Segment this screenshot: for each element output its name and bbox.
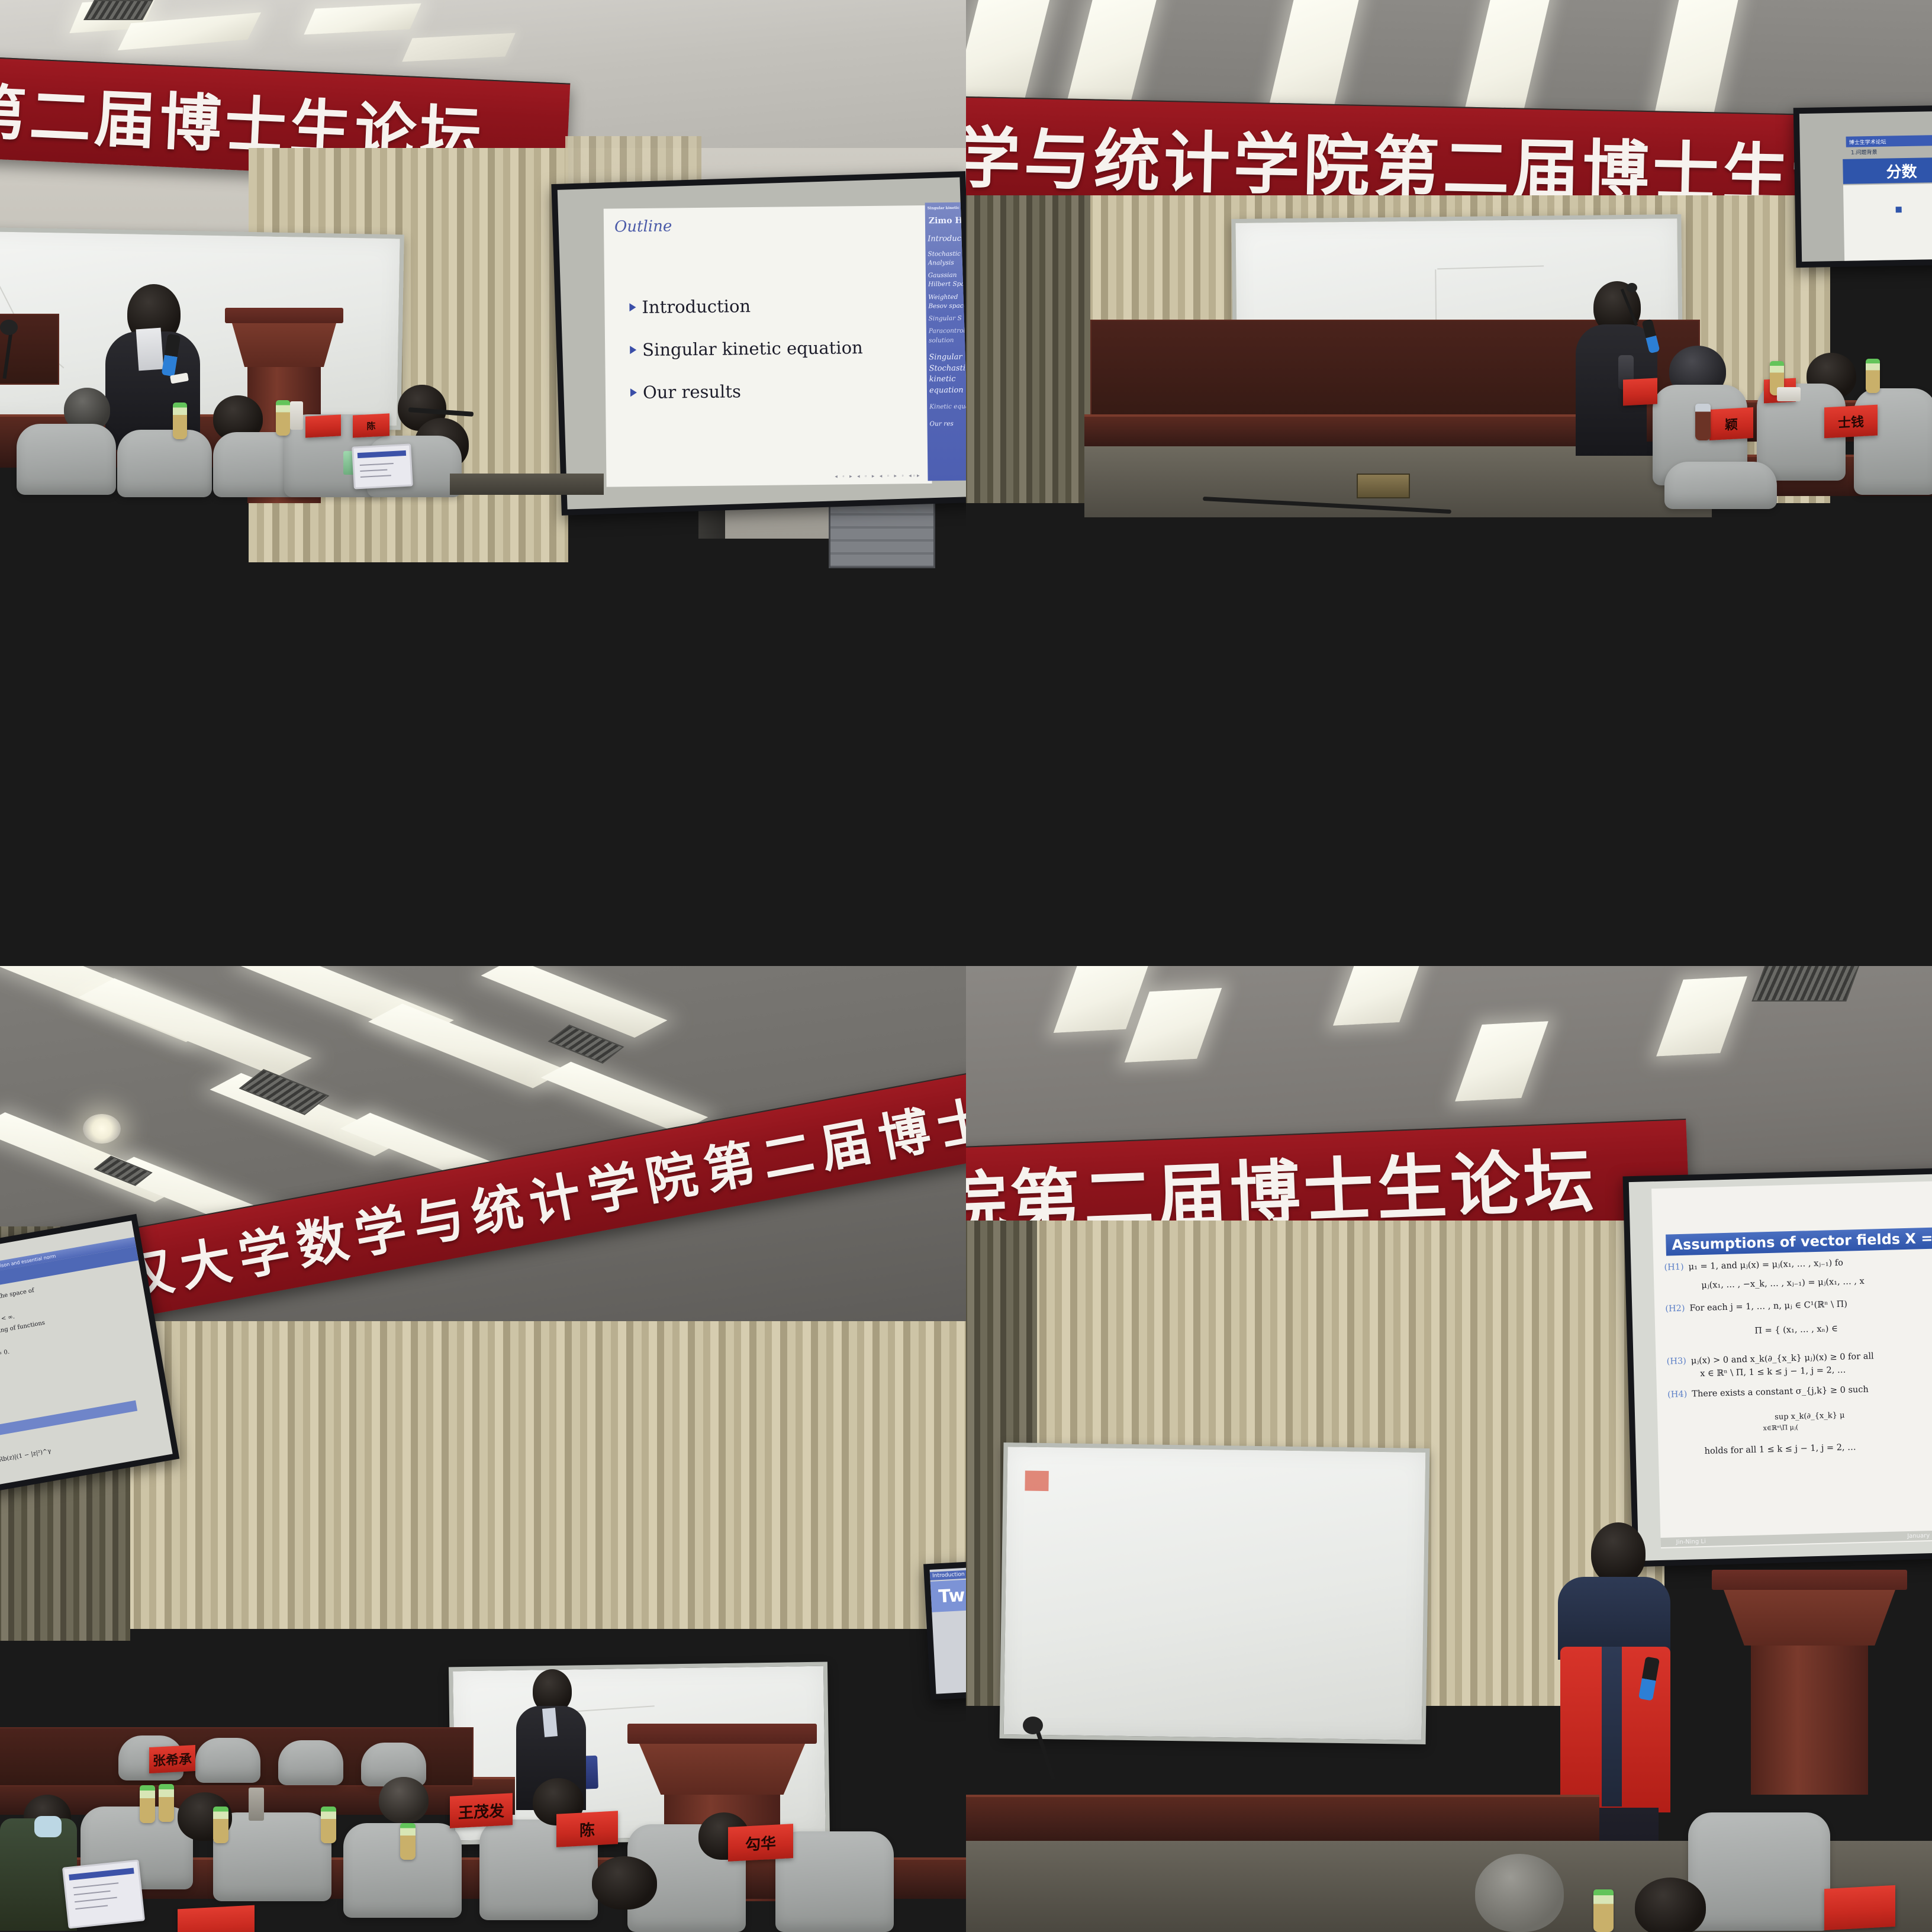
sidebar-header: Singular kinetic equation bbox=[928, 206, 966, 212]
slide-outline: Outline Introduction Singular kinetic eq… bbox=[604, 205, 932, 487]
slide-header: 博士生学术论坛 bbox=[1846, 134, 1932, 147]
floor-strip bbox=[450, 474, 604, 495]
slide-body bbox=[1843, 183, 1932, 260]
drink-bottle bbox=[400, 1823, 416, 1860]
chair bbox=[17, 424, 116, 495]
slide-footer-date: January 5, 2021 bbox=[1907, 1531, 1932, 1539]
slide-nav-dots: ◂ ▫ ▸ ◂ ▫ ▸ ◂ ▫ ▸ ▫ ◂▫▸ bbox=[835, 472, 921, 480]
whiteboard-mark bbox=[1435, 269, 1437, 321]
slide-bullet: Our results bbox=[630, 381, 741, 402]
audience-head bbox=[1635, 1878, 1706, 1932]
speaker-shirt bbox=[542, 1708, 558, 1737]
chair bbox=[775, 1831, 894, 1932]
drink-bottle bbox=[159, 1784, 174, 1822]
slide-theorem: S. Then B_{γ,0}) ≍ lim sup |Rb(z)|(1 − |… bbox=[0, 1434, 52, 1477]
screen-surface: 博士生学术论坛 1.问题背景 分数 bbox=[1799, 111, 1932, 262]
speaker-jacket-zip bbox=[1602, 1647, 1622, 1807]
slide-assumptions: (H1) μ₁ = 1, and μⱼ(x) = μⱼ(x₁, … , xⱼ₋₁… bbox=[1664, 1254, 1932, 1459]
panel-bottom-left: 武汉大学数学与统计学院第二届博士生论坛 Comparison and essen… bbox=[0, 966, 966, 1932]
slide-bullet-label: Our results bbox=[643, 381, 741, 402]
chair bbox=[278, 1740, 343, 1785]
bullet-triangle-icon bbox=[630, 388, 637, 397]
drink-can bbox=[1695, 404, 1711, 440]
drink-bottle bbox=[1593, 1889, 1614, 1932]
microphone-head bbox=[0, 320, 18, 335]
slide-title: Outline bbox=[614, 217, 672, 236]
projection-screen: Assumptions of vector fields X = ( (H1) … bbox=[1622, 1168, 1932, 1567]
assumption-item: (H4) There exists a constant σ_{j,k} ≥ 0… bbox=[1667, 1381, 1932, 1402]
sidebar-item: Kinetic equation bbox=[929, 402, 966, 412]
screen-surface: Introduction Tw bbox=[930, 1567, 966, 1693]
sidebar-item: Gaussian Hilbert Space bbox=[928, 271, 966, 289]
slide-bullet: Singular kinetic equation bbox=[630, 337, 863, 360]
speaker-head bbox=[1591, 1522, 1646, 1584]
paper-sheet bbox=[1777, 387, 1801, 401]
sidebar-item: Weighted Besov space bbox=[928, 292, 966, 311]
downlight bbox=[83, 1114, 121, 1144]
slide-subheader: 1.问题背景 bbox=[1851, 148, 1878, 156]
assumption-line: There exists a constant σ_{j,k} ≥ 0 such bbox=[1692, 1383, 1869, 1401]
sidebar-item: kinetic bbox=[929, 374, 966, 386]
assumption-line: Π = { (x₁, … , xₙ) ∈ bbox=[1754, 1320, 1932, 1338]
drink-bottle bbox=[276, 400, 290, 436]
whiteboard bbox=[0, 227, 404, 430]
bullet-triangle-icon bbox=[630, 346, 636, 354]
desk-row bbox=[966, 1795, 1599, 1848]
sidebar-item: Introduction bbox=[928, 234, 966, 246]
whiteboard-mark bbox=[1437, 265, 1544, 269]
audience-head bbox=[379, 1777, 429, 1823]
name-placard[interactable] bbox=[1623, 378, 1657, 405]
podium bbox=[1712, 1570, 1907, 1795]
sidebar-item: Singular bbox=[929, 352, 966, 363]
name-placard[interactable]: 陈 bbox=[556, 1811, 618, 1847]
chair bbox=[195, 1738, 260, 1783]
name-placard[interactable] bbox=[305, 414, 341, 437]
slide-sidebar: Singular kinetic equation Zimo Hao Intro… bbox=[925, 202, 966, 481]
slide-title: 分数 bbox=[1843, 157, 1932, 183]
name-placard[interactable] bbox=[1824, 1885, 1895, 1930]
panel-bottom-right: 院第二届博士生论坛 Assumptions of vector fields X… bbox=[966, 966, 1932, 1932]
slide-bullet: Introduction bbox=[629, 296, 751, 317]
air-vent bbox=[1751, 966, 1861, 1002]
sidebar-author: Zimo Hao bbox=[928, 214, 966, 227]
whiteboard-mark bbox=[572, 1705, 655, 1712]
photo-collage: 第二届博士生论坛 Outline Introduction Singular bbox=[0, 0, 1932, 1932]
assumption-line: μⱼ(x₁, … , −x_k, … , xⱼ₋₁) = μⱼ(x₁, … , … bbox=[1701, 1273, 1932, 1292]
assumption-tag: (H1) bbox=[1664, 1261, 1684, 1275]
screen-surface: Assumptions of vector fields X = ( (H1) … bbox=[1629, 1174, 1932, 1561]
name-placard[interactable]: 颖 bbox=[1709, 407, 1753, 440]
panel-top-right: 学与统计学院第二届博士生论坛 博士生学术论坛 1.问题背景 分数 bbox=[966, 0, 1932, 966]
assumption-line: For each j = 1, … , n, μⱼ ∈ C¹(ℝⁿ \ Π) bbox=[1689, 1298, 1847, 1315]
chair bbox=[1854, 388, 1932, 495]
name-placard[interactable]: 勾华 bbox=[728, 1824, 793, 1862]
thermos bbox=[249, 1788, 264, 1821]
projection-screen: 博士生学术论坛 1.问题背景 分数 bbox=[1793, 105, 1932, 268]
sidebar-item: Stochastic Analysis bbox=[928, 249, 966, 268]
whiteboard bbox=[1000, 1442, 1430, 1744]
slide-bullet-label: Introduction bbox=[642, 296, 751, 317]
whiteboard-marker bbox=[1025, 1471, 1048, 1492]
slide-bullet-square bbox=[1896, 207, 1902, 212]
drink-bottle bbox=[1866, 359, 1880, 393]
microphone-head bbox=[1023, 1717, 1043, 1734]
sidebar-item: Singular S bbox=[929, 314, 966, 324]
speaker-collar bbox=[136, 328, 164, 371]
chair bbox=[213, 1812, 331, 1901]
chair bbox=[117, 430, 212, 497]
sidebar-item: Paracontrolled solution bbox=[929, 327, 966, 345]
paper-cup bbox=[290, 401, 303, 430]
bullet-triangle-icon bbox=[629, 303, 636, 311]
slide-body: be the γ-Bloch space, that is, the space… bbox=[0, 1267, 149, 1373]
assumption-tag: (H4) bbox=[1667, 1388, 1688, 1402]
name-placard[interactable]: 王茂发 bbox=[450, 1793, 513, 1828]
assumption-tag: (H2) bbox=[1665, 1302, 1685, 1316]
name-placard[interactable]: 陈 bbox=[353, 413, 389, 437]
audience-head-with-cap bbox=[1475, 1854, 1564, 1932]
air-vent bbox=[83, 0, 153, 20]
projection-screen: Outline Introduction Singular kinetic eq… bbox=[551, 171, 966, 516]
assumption-tag: (H3) bbox=[1666, 1355, 1686, 1369]
tablet-device[interactable] bbox=[352, 443, 413, 489]
face-mask bbox=[34, 1816, 62, 1837]
slide-bullet-label: Singular kinetic equation bbox=[642, 337, 863, 360]
slide-title: Tw bbox=[930, 1579, 966, 1612]
slide-footer-author: Jin-Ning Li bbox=[1676, 1538, 1706, 1545]
tablet-device[interactable] bbox=[62, 1859, 145, 1928]
chair bbox=[1688, 1812, 1830, 1931]
name-placard[interactable]: 士钱 bbox=[1824, 405, 1878, 439]
sidebar-item: Stochastic bbox=[929, 363, 966, 375]
slide-header: Introduction bbox=[930, 1570, 966, 1580]
drink-bottle bbox=[173, 402, 187, 439]
drink-bottle bbox=[213, 1807, 228, 1843]
sidebar-item: equation bbox=[929, 385, 966, 397]
screen-surface: Outline Introduction Singular kinetic eq… bbox=[558, 177, 966, 509]
floor-box bbox=[1357, 474, 1410, 498]
chair bbox=[1664, 462, 1777, 509]
name-placard[interactable] bbox=[178, 1905, 255, 1932]
audience-head bbox=[592, 1856, 657, 1910]
name-placard[interactable]: 张希承 bbox=[149, 1745, 195, 1773]
assumption-item: (H2) For each j = 1, … , n, μⱼ ∈ C¹(ℝⁿ \… bbox=[1665, 1295, 1932, 1316]
drink-bottle bbox=[321, 1807, 336, 1843]
projection-screen-right: Introduction Tw bbox=[923, 1561, 966, 1700]
microphone-head bbox=[1627, 283, 1637, 292]
curtain bbox=[966, 195, 1090, 503]
sidebar-item: Our res bbox=[929, 420, 966, 429]
panel-top-left: 第二届博士生论坛 Outline Introduction Singular bbox=[0, 0, 966, 966]
drink-bottle bbox=[140, 1785, 155, 1823]
